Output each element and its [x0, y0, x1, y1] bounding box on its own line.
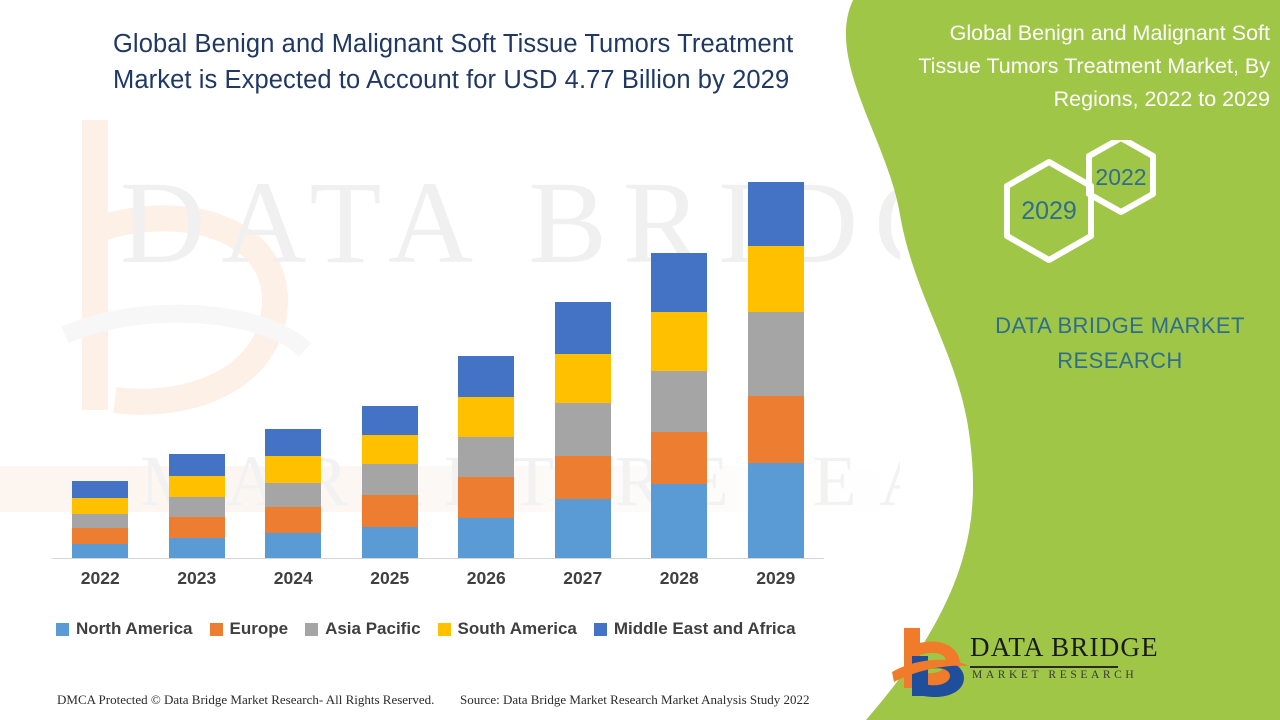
- x-axis-line: [52, 558, 824, 559]
- x-axis-label: 2027: [555, 568, 611, 589]
- bar-segment: [265, 429, 321, 456]
- legend-item[interactable]: Middle East and Africa: [594, 619, 796, 639]
- x-axis-label: 2024: [265, 568, 321, 589]
- legend-label: Middle East and Africa: [614, 619, 796, 639]
- bar-segment: [458, 437, 514, 477]
- x-axis-label: 2022: [72, 568, 128, 589]
- footer-copyright: DMCA Protected © Data Bridge Market Rese…: [57, 692, 434, 708]
- bar-segment: [265, 456, 321, 483]
- bar-column: [72, 481, 128, 558]
- bar-segment: [748, 312, 804, 396]
- bar-segment: [265, 483, 321, 508]
- bar-segment: [169, 497, 225, 517]
- infographic-canvas: DATA BRIDGE MARKET RESEARCH Global Benig…: [0, 0, 1280, 720]
- legend-swatch-icon: [305, 623, 318, 636]
- bar-segment: [72, 498, 128, 514]
- x-axis-label: 2026: [458, 568, 514, 589]
- bar-column: [458, 356, 514, 558]
- bar-segment: [458, 477, 514, 518]
- bar-segment: [458, 397, 514, 437]
- legend-label: Asia Pacific: [325, 619, 420, 639]
- chart-plot-area: [52, 150, 824, 559]
- legend-swatch-icon: [438, 623, 451, 636]
- bar-segment: [555, 499, 611, 558]
- panel-title: Global Benign and Malignant Soft Tissue …: [895, 17, 1270, 116]
- bar-segment: [555, 403, 611, 455]
- chart-legend: North AmericaEuropeAsia PacificSouth Ame…: [56, 617, 836, 641]
- bar-segment: [362, 435, 418, 464]
- stacked-bar-chart: [52, 150, 824, 560]
- bar-segment: [748, 182, 804, 246]
- hexagon-2029-label: 2029: [1021, 197, 1077, 225]
- bar-segment: [651, 253, 707, 312]
- bar-segment: [555, 302, 611, 354]
- bar-segment: [555, 456, 611, 499]
- bar-segment: [651, 371, 707, 432]
- bar-segment: [651, 484, 707, 558]
- legend-item[interactable]: Asia Pacific: [305, 619, 420, 639]
- x-axis-label: 2025: [362, 568, 418, 589]
- panel-brand-text: DATA BRIDGE MARKET RESEARCH: [960, 308, 1280, 378]
- bar-segment: [748, 396, 804, 463]
- hexagon-2022-label: 2022: [1095, 164, 1146, 190]
- logo-divider: [970, 666, 1118, 668]
- x-axis-label: 2028: [651, 568, 707, 589]
- bar-segment: [169, 476, 225, 497]
- bar-column: [651, 253, 707, 558]
- bar-segment: [458, 518, 514, 558]
- bar-segment: [169, 454, 225, 476]
- bar-segment: [265, 533, 321, 558]
- bar-column: [748, 182, 804, 558]
- bar-segment: [169, 517, 225, 538]
- bar-segment: [362, 406, 418, 435]
- bar-segment: [362, 527, 418, 558]
- bar-segment: [651, 312, 707, 371]
- bar-segment: [72, 544, 128, 558]
- bar-segment: [265, 507, 321, 533]
- bar-column: [362, 406, 418, 558]
- legend-label: North America: [76, 619, 193, 639]
- bar-segment: [748, 246, 804, 312]
- x-axis-label: 2029: [748, 568, 804, 589]
- hexagon-badges: 2029 2022: [975, 140, 1190, 295]
- data-bridge-logo: DATA BRIDGE MARKET RESEARCH: [890, 622, 1120, 700]
- legend-item[interactable]: Europe: [210, 619, 289, 639]
- bar-segment: [72, 528, 128, 543]
- legend-swatch-icon: [210, 623, 223, 636]
- page-title: Global Benign and Malignant Soft Tissue …: [113, 26, 813, 98]
- x-axis-label: 2023: [169, 568, 225, 589]
- legend-swatch-icon: [594, 623, 607, 636]
- x-axis-labels: 20222023202420252026202720282029: [52, 568, 824, 596]
- bar-segment: [72, 481, 128, 498]
- bar-segment: [748, 463, 804, 558]
- legend-swatch-icon: [56, 623, 69, 636]
- legend-label: Europe: [230, 619, 289, 639]
- footer-source: Source: Data Bridge Market Research Mark…: [460, 692, 809, 708]
- bar-segment: [651, 432, 707, 484]
- bar-segment: [362, 464, 418, 495]
- legend-label: South America: [458, 619, 577, 639]
- legend-item[interactable]: North America: [56, 619, 193, 639]
- bar-segment: [458, 356, 514, 397]
- bar-column: [555, 302, 611, 558]
- bar-segment: [72, 514, 128, 528]
- bar-segment: [362, 495, 418, 527]
- bar-segment: [169, 538, 225, 558]
- logo-subtitle: MARKET RESEARCH: [972, 669, 1137, 681]
- logo-title: DATA BRIDGE: [970, 632, 1159, 663]
- legend-item[interactable]: South America: [438, 619, 577, 639]
- bar-segment: [555, 354, 611, 404]
- bar-column: [265, 429, 321, 558]
- bar-column: [169, 454, 225, 558]
- data-bridge-mark-icon: [890, 622, 970, 700]
